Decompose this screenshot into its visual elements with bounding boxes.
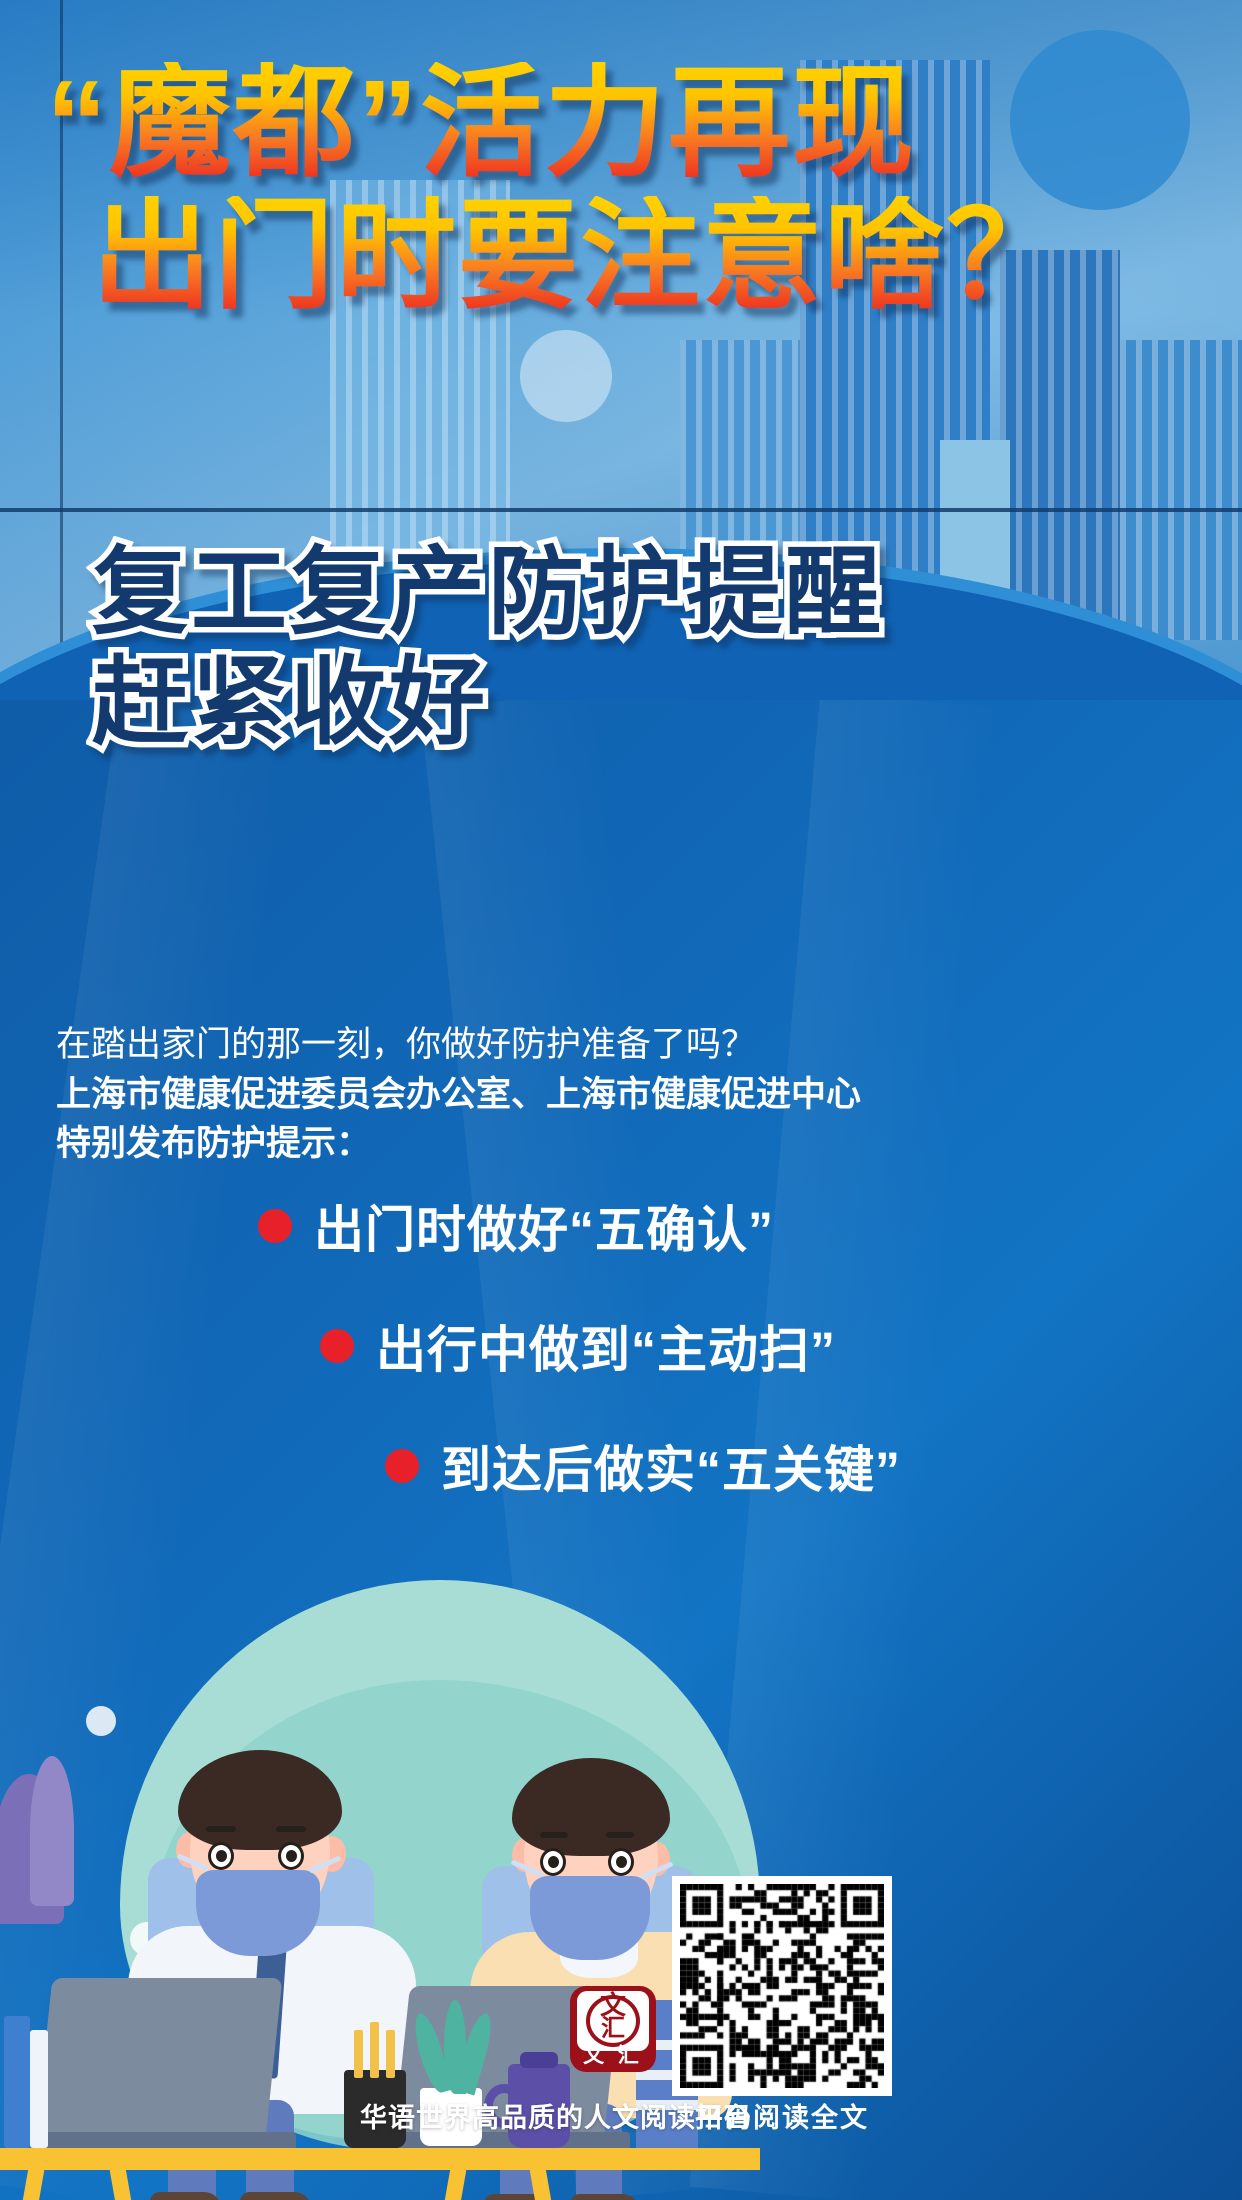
bullet-dot-icon [385, 1449, 419, 1483]
eyebrow [276, 1826, 306, 1832]
book-white [30, 2030, 48, 2148]
desk-top [0, 2148, 760, 2170]
list-item: 出行中做到“主动扫” [0, 1310, 1242, 1382]
desk-leg [110, 2168, 147, 2200]
pencil [386, 2030, 395, 2078]
decor-dot [86, 1706, 116, 1736]
eyebrow [206, 1826, 236, 1832]
pupil [286, 1850, 297, 1862]
face-mask [530, 1876, 650, 1960]
logo-wordmark: 文 汇 [570, 2039, 656, 2069]
desk-leg [8, 2168, 45, 2200]
logo-char-bottom: 汇 [577, 2017, 649, 2041]
pupil [548, 1856, 559, 1868]
qr-caption: 扫码阅读全文 [652, 2096, 912, 2135]
qr-code[interactable] [672, 1876, 892, 2096]
pupil [616, 1856, 627, 1868]
eyebrow [540, 1832, 568, 1838]
intro-line-2: 上海市健康促进委员会办公室、上海市健康促进中心 [56, 1070, 1106, 1120]
purple-plant-leaf [30, 1756, 74, 1906]
poster-root: “魔都”活力再现 出门时要注意啥？ 复工复产防护提醒 赶紧收好 在踏出家门的那一… [0, 0, 1242, 2200]
wenhui-logo: 文 汇 文 汇 [570, 1986, 656, 2072]
list-item: 出门时做好“五确认” [0, 1190, 1242, 1262]
list-item: 到达后做实“五关键” [0, 1430, 1242, 1502]
shoe [240, 2192, 312, 2200]
intro-paragraph: 在踏出家门的那一刻，你做好防护准备了吗？ 上海市健康促进委员会办公室、上海市健康… [56, 1020, 1106, 1169]
mug-lid [520, 2052, 558, 2068]
bullet-label: 出门时做好“五确认” [314, 1190, 774, 1262]
subheadline-line-2: 赶紧收好 [92, 655, 488, 751]
book-blue [4, 2016, 30, 2148]
intro-line-3: 特别发布防护提示： [56, 1119, 1106, 1169]
subheadline-line-1: 复工复产防护提醒 [92, 545, 884, 641]
qr-code-canvas[interactable] [680, 1884, 884, 2088]
bullet-dot-icon [320, 1329, 354, 1363]
headline-line-1: “魔都”活力再现 [46, 62, 916, 184]
desk-leg [430, 2168, 467, 2200]
shoe [570, 2194, 640, 2200]
eyebrow [606, 1832, 634, 1838]
bullet-label: 出行中做到“主动扫” [376, 1310, 836, 1382]
desk-leg [530, 2168, 567, 2200]
pencil [370, 2022, 379, 2078]
laptop-left-screen [36, 1978, 283, 2138]
shoe [150, 2192, 222, 2200]
face-mask [196, 1870, 320, 1956]
headline-line-2: 出门时要注意啥？ [92, 196, 1068, 316]
pencil [354, 2030, 363, 2078]
intro-line-1: 在踏出家门的那一刻，你做好防护准备了吗？ [56, 1020, 1106, 1070]
bullet-label: 到达后做实“五关键” [441, 1430, 901, 1502]
pupil [216, 1850, 227, 1862]
bullet-dot-icon [258, 1209, 292, 1243]
bullet-list: 出门时做好“五确认” 出行中做到“主动扫” 到达后做实“五关键” [0, 1190, 1242, 1550]
